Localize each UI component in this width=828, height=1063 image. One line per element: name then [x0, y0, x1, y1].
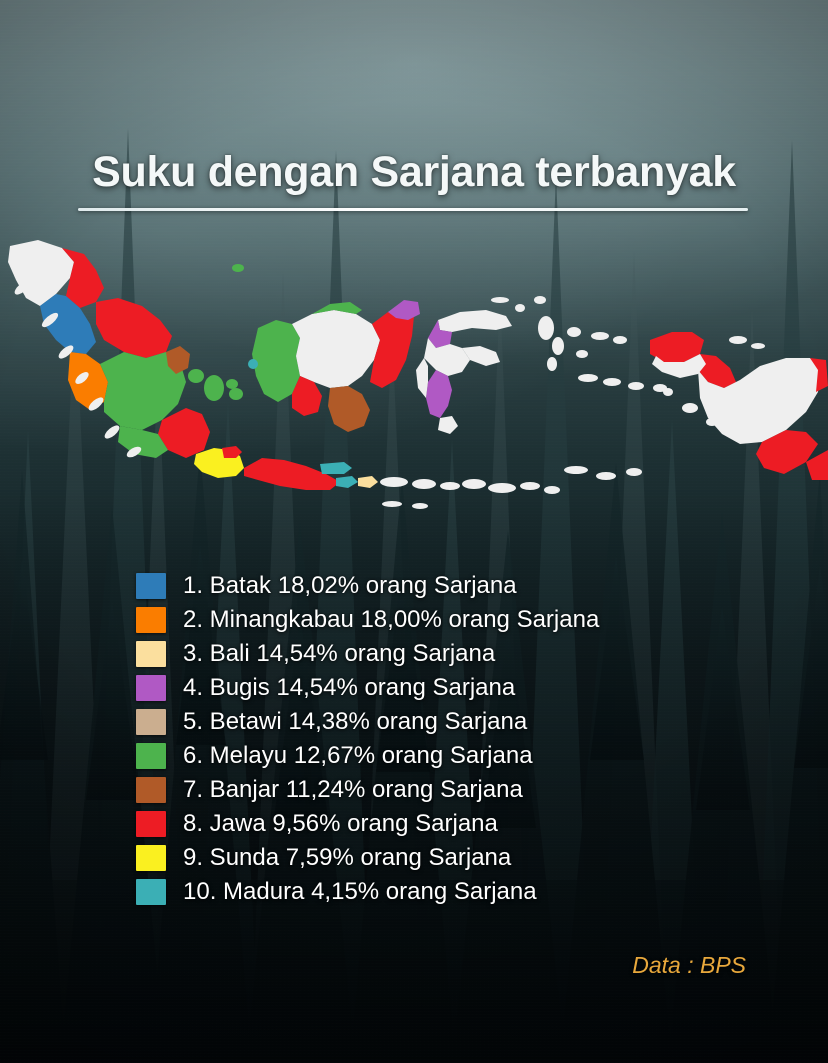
legend-item-melayu[interactable]: 6. Melayu 12,67% orang Sarjana [136, 743, 756, 769]
legend-item-bugis[interactable]: 4. Bugis 14,54% orang Sarjana [136, 675, 756, 701]
map-region-kalimantan-dayak [292, 310, 380, 388]
map-islet-green-java-sea [226, 379, 238, 389]
legend-item-batak[interactable]: 1. Batak 18,02% orang Sarjana [136, 573, 756, 599]
legend-swatch-banjar [136, 777, 166, 803]
map-region-madura-east [336, 476, 358, 488]
legend-item-madura[interactable]: 10. Madura 4,15% orang Sarjana [136, 879, 756, 905]
map-region-sulawesi-white-west [416, 358, 428, 398]
map-islet-green-north [232, 264, 244, 272]
map-islands-maluku-north [491, 296, 546, 312]
legend-label-minangkabau: 2. Minangkabau 18,00% orang Sarjana [183, 607, 599, 633]
infographic-poster: Suku dengan Sarjana terbanyak [0, 0, 828, 1063]
legend-swatch-jawa [136, 811, 166, 837]
map-island-belitung [229, 388, 243, 400]
legend-swatch-minangkabau [136, 607, 166, 633]
indonesia-choropleth-map [0, 236, 828, 512]
map-islands-maluku [538, 316, 667, 392]
legend-label-melayu: 6. Melayu 12,67% orang Sarjana [183, 743, 533, 769]
legend-label-sunda: 9. Sunda 7,59% orang Sarjana [183, 845, 511, 871]
legend-swatch-sunda [136, 845, 166, 871]
legend-item-jawa[interactable]: 8. Jawa 9,56% orang Sarjana [136, 811, 756, 837]
legend-swatch-melayu [136, 743, 166, 769]
legend-label-jawa: 8. Jawa 9,56% orang Sarjana [183, 811, 498, 837]
map-islands-nusa-tenggara [380, 477, 560, 494]
legend-item-sunda[interactable]: 9. Sunda 7,59% orang Sarjana [136, 845, 756, 871]
map-region-riau-jawa [96, 298, 172, 358]
map-region-bugis-south [426, 370, 452, 418]
title-underline-divider [78, 208, 748, 211]
legend-label-batak: 1. Batak 18,02% orang Sarjana [183, 573, 517, 599]
legend-label-banjar: 7. Banjar 11,24% orang Sarjana [183, 777, 523, 803]
legend: 1. Batak 18,02% orang Sarjana 2. Minangk… [136, 573, 756, 905]
legend-swatch-bugis [136, 675, 166, 701]
map-islet-green-karimata [188, 369, 204, 383]
map-region-madura [320, 462, 352, 474]
legend-label-betawi: 5. Betawi 14,38% orang Sarjana [183, 709, 527, 735]
map-region-kalbar-melayu [252, 320, 300, 402]
legend-item-betawi[interactable]: 5. Betawi 14,38% orang Sarjana [136, 709, 756, 735]
title-container: Suku dengan Sarjana terbanyak [0, 148, 828, 197]
map-region-sulut [438, 310, 512, 332]
legend-item-banjar[interactable]: 7. Banjar 11,24% orang Sarjana [136, 777, 756, 803]
legend-swatch-bali [136, 641, 166, 667]
legend-swatch-betawi [136, 709, 166, 735]
legend-label-bali: 3. Bali 14,54% orang Sarjana [183, 641, 495, 667]
legend-swatch-madura [136, 879, 166, 905]
map-region-bali [358, 476, 378, 488]
map-islet-teal-kalbar [248, 359, 258, 369]
map-island-bangka [204, 375, 224, 401]
legend-item-minangkabau[interactable]: 2. Minangkabau 18,00% orang Sarjana [136, 607, 756, 633]
legend-swatch-batak [136, 573, 166, 599]
legend-label-madura: 10. Madura 4,15% orang Sarjana [183, 879, 537, 905]
legend-item-bali[interactable]: 3. Bali 14,54% orang Sarjana [136, 641, 756, 667]
page-title: Suku dengan Sarjana terbanyak [92, 148, 736, 197]
map-region-banjar [328, 386, 370, 432]
map-region-sulsel-white [438, 416, 458, 434]
legend-label-bugis: 4. Bugis 14,54% orang Sarjana [183, 675, 515, 701]
data-source-note: Data : BPS [0, 952, 746, 979]
